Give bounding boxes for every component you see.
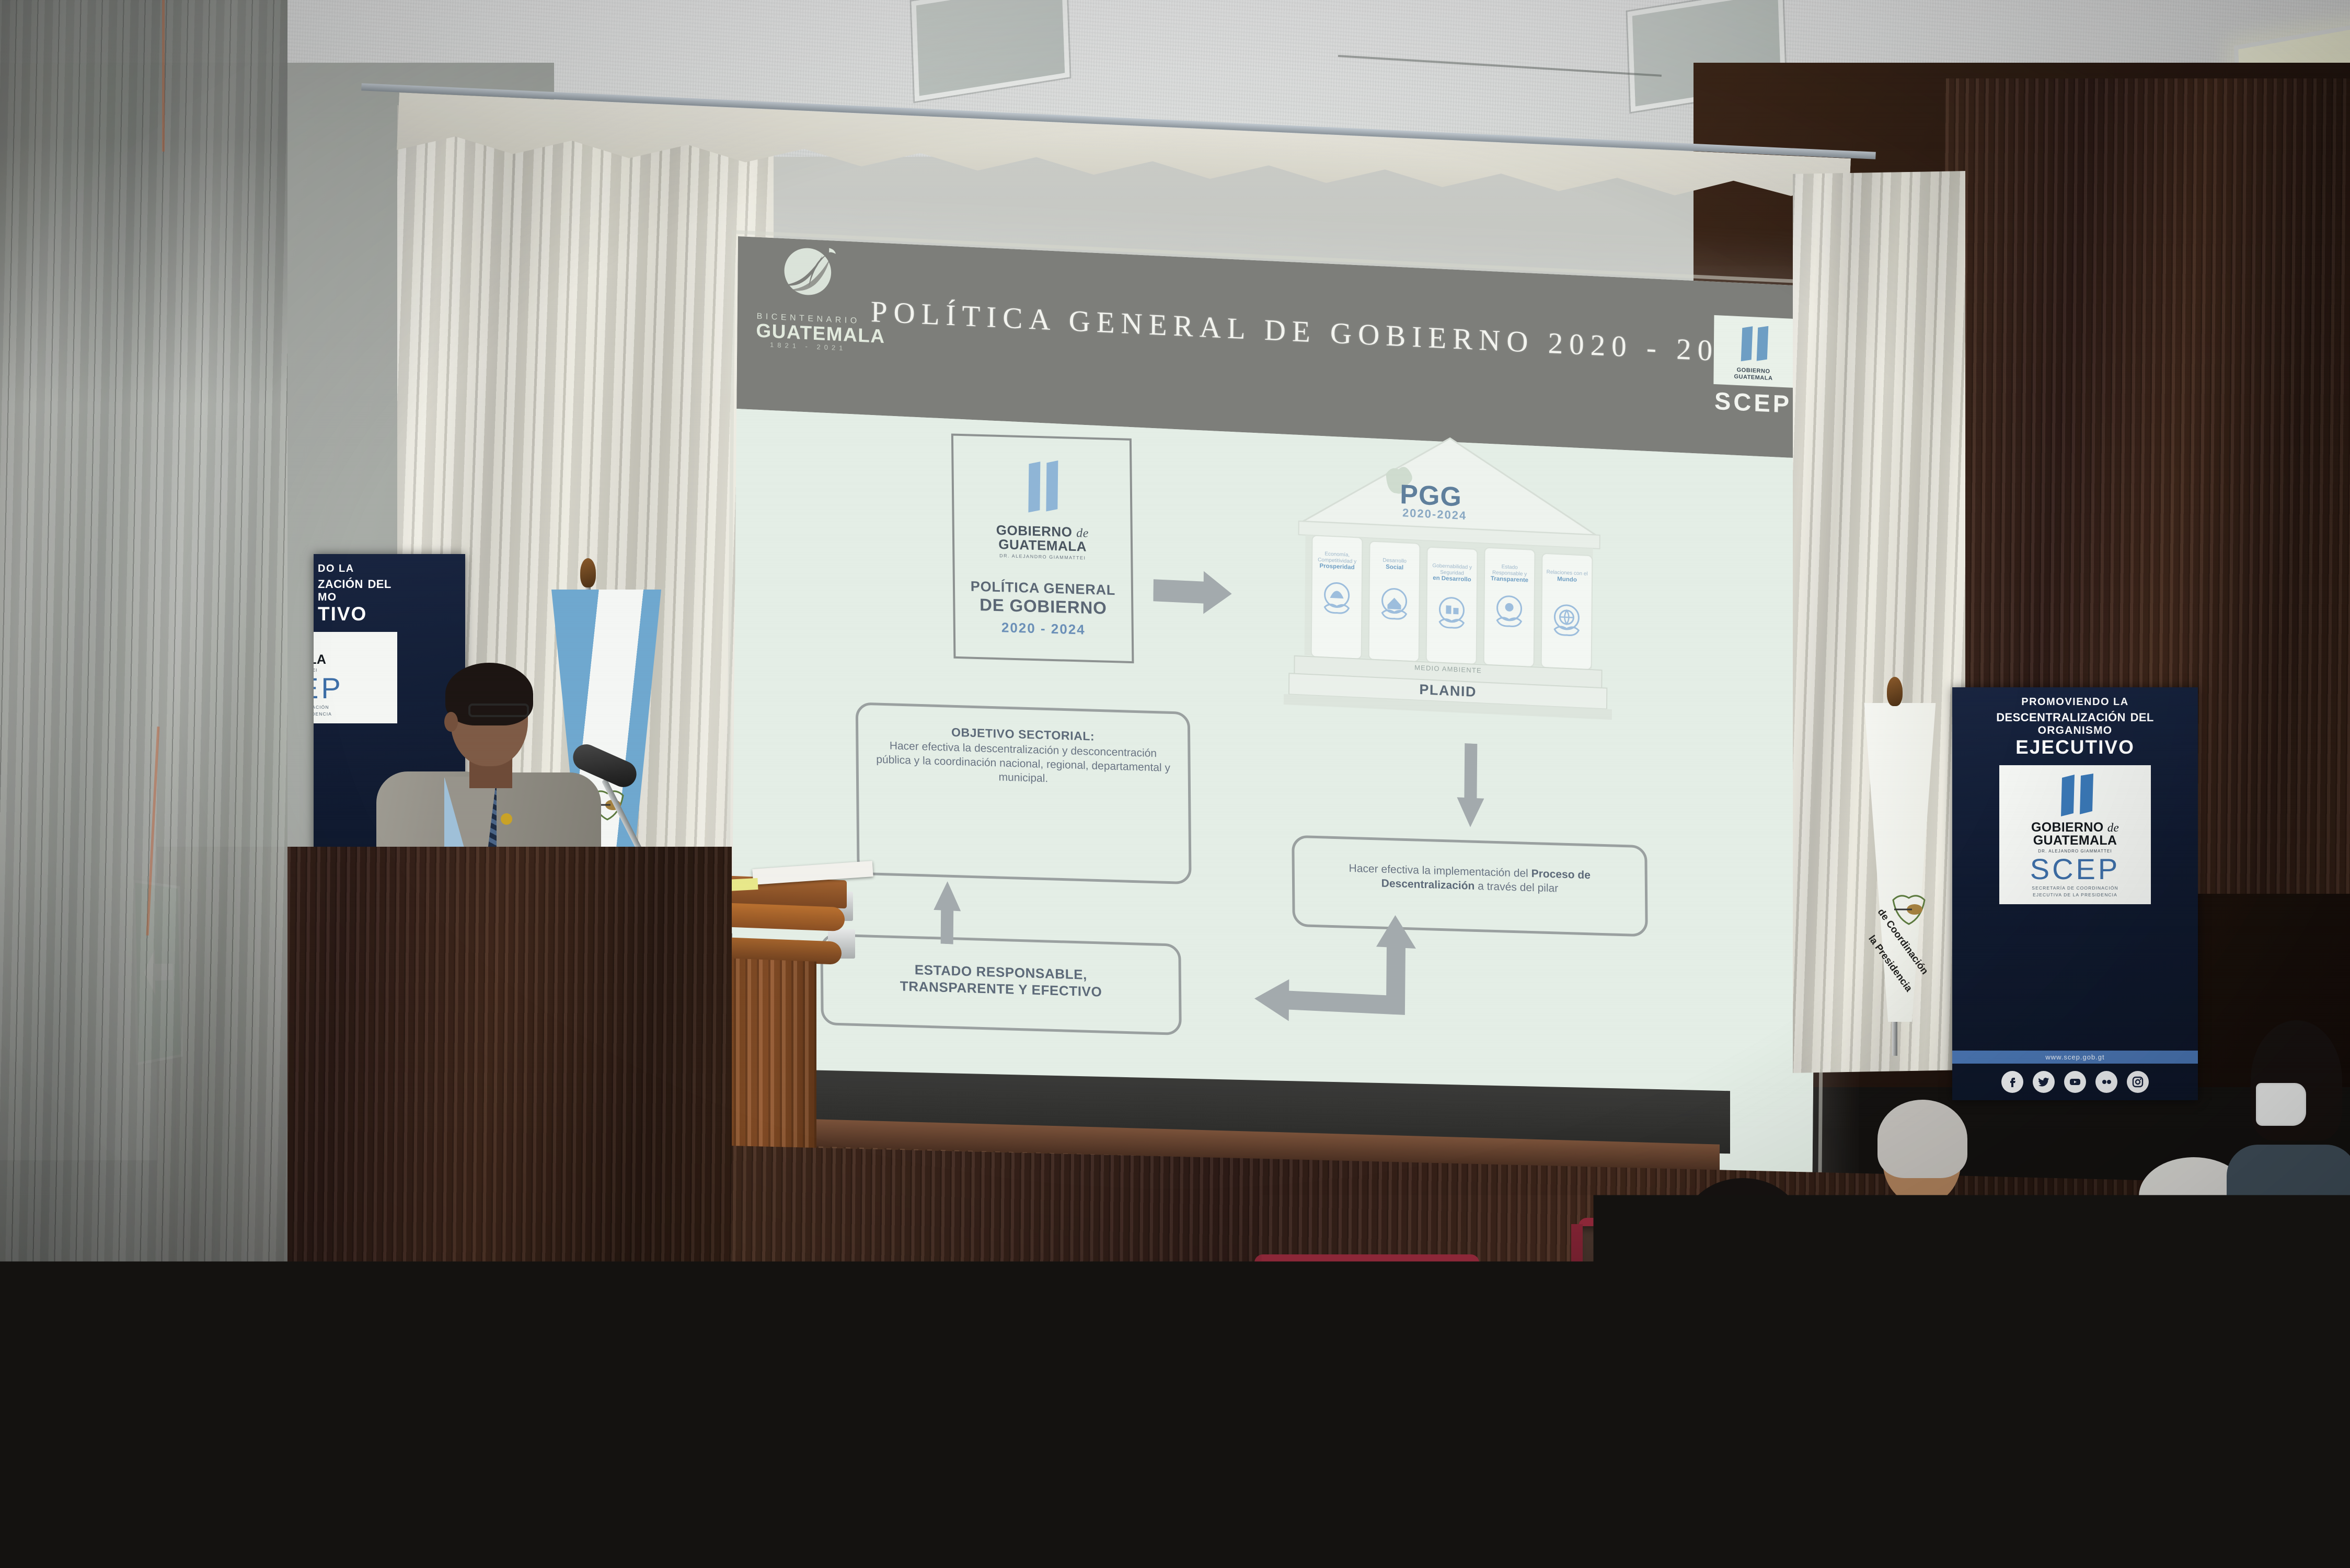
- slide-title: POLÍTICA GENERAL DE GOBIERNO 2020 - 2024: [871, 295, 1761, 370]
- person-body: [2227, 1145, 2350, 1260]
- flagpole-finial-national: [580, 558, 596, 587]
- speaker-lapel-pin: [501, 813, 512, 825]
- banner-right-logo-guatemala: GUATEMALA: [2002, 834, 2148, 848]
- pillar-label-0: Economía, Competitividad y Prosperidad: [1313, 550, 1361, 571]
- banner-right-heading: PROMOVIENDO LA DESCENTRALIZACIÓN DEL ORG…: [1952, 687, 2198, 758]
- banner-right-logo-scep: SCEP: [2002, 855, 2148, 884]
- pillar-sub-2: Gobernabilidad y Seguridad: [1432, 563, 1472, 576]
- objetivo-sectorial-box: OBJETIVO SECTORIAL: Hacer efectiva la de…: [856, 702, 1192, 884]
- proceso-text: Hacer efectiva la implementación del Pro…: [1316, 861, 1624, 898]
- banner-left-logo-row: de: [314, 640, 394, 654]
- card-title-line2: DE GOBIERNO: [955, 594, 1131, 619]
- audience-person-a6: [2232, 1019, 2350, 1218]
- facebook-icon-right[interactable]: [2001, 1071, 2023, 1093]
- pillar-sub-3: Estado Responsable y: [1492, 564, 1527, 577]
- seat-tablet-arm-1[interactable]: [1083, 1263, 1138, 1346]
- pillar-label-1: Desarrollo Social: [1370, 557, 1419, 572]
- quetzal-bicentennial-icon: [774, 242, 844, 312]
- audience-person-a1: [1192, 1296, 1526, 1568]
- pillar-seal-icon-4: [1550, 602, 1583, 640]
- person-face-mask: [2102, 1463, 2175, 1521]
- banner-right-line3: ORGANISMO: [1952, 725, 2198, 737]
- pillar-name-4: Mundo: [1557, 576, 1577, 583]
- banner-right-line2-suffix: DEL: [2130, 711, 2154, 724]
- person-body: [1631, 1359, 1876, 1547]
- pillar-label-2: Gobernabilidad y Seguridad en Desarrollo: [1428, 563, 1476, 584]
- arrow-down-icon: [1457, 743, 1484, 827]
- guatemala-bars-icon: [1727, 324, 1780, 366]
- seat-tablet-arm-2[interactable]: [952, 1404, 1007, 1487]
- audience-document-1: [1962, 1453, 2068, 1536]
- pillar-name-0: Prosperidad: [1319, 563, 1354, 571]
- arrow-up-icon: [934, 881, 961, 944]
- banner-right-logo: GOBIERNO de GUATEMALA DR. ALEJANDRO GIAM…: [1999, 765, 2151, 904]
- auditorium-scene: BICENTENARIO GUATEMALA 1821 - 2021 POLÍT…: [0, 0, 2350, 1568]
- pillar-seal-icon-1: [1378, 585, 1411, 624]
- arrow-elbow-icon: [1254, 909, 1438, 1048]
- slide-scep-logo: GOBIERNO GUATEMALA SCEP: [1706, 315, 1801, 419]
- banner-left-line2-main: ZACIÓN: [318, 578, 363, 591]
- person-hair: [1877, 1100, 1967, 1178]
- projection-screen: BICENTENARIO GUATEMALA 1821 - 2021 POLÍT…: [730, 236, 1820, 1217]
- banner-left-logo-guatemala: ALA: [314, 653, 394, 667]
- guatemala-bars-icon-card: [1013, 459, 1071, 518]
- person-body: [1845, 1202, 1997, 1338]
- person-mask-strap: [1741, 1243, 1793, 1295]
- pillar-label-4: Relaciones con el Mundo: [1543, 569, 1591, 584]
- pillar-name-2: en Desarrollo: [1433, 575, 1471, 583]
- audience-person-a5: [2049, 1364, 2295, 1568]
- bicentennial-logo: BICENTENARIO GUATEMALA 1821 - 2021: [756, 241, 861, 353]
- banner-right-line2-main: DESCENTRALIZACIÓN: [1996, 711, 2126, 724]
- speaker-glasses-icon: [468, 704, 529, 717]
- person-glasses-icon: [1689, 1239, 1747, 1252]
- banner-left-heading: DO LA ZACIÓN DEL MO TIVO: [314, 554, 465, 625]
- pillar-seal-icon-3: [1493, 593, 1526, 631]
- twitter-icon-right[interactable]: [2033, 1071, 2055, 1093]
- pillar-seal-icon-0: [1320, 580, 1353, 618]
- scep-acronym: SCEP: [1706, 386, 1800, 419]
- banner-left-line3: MO: [318, 592, 465, 604]
- blind-mark-1: [162, 0, 165, 152]
- banner-right-logo-row: GOBIERNO de: [2002, 821, 2148, 835]
- banner-right-url[interactable]: www.scep.gob.gt: [1952, 1051, 2198, 1064]
- pillar-name-3: Transparente: [1491, 575, 1528, 583]
- policy-document-card: GOBIERNO de GUATEMALA DR. ALEJANDRO GIAM…: [951, 433, 1134, 663]
- person-face-mask: [2256, 1083, 2306, 1126]
- proceso-text-2: a través del pilar: [1474, 880, 1558, 895]
- pillar-label-3: Estado Responsable y Transparente: [1485, 563, 1534, 584]
- flagpole-finial-institutional: [1887, 677, 1903, 706]
- objetivo-body: Hacer efectiva la descentralización y de…: [874, 739, 1172, 789]
- audience-person-a3: [1845, 1087, 1997, 1307]
- proceso-text-1: Hacer efectiva la implementación del: [1349, 862, 1531, 880]
- banner-left-line1: DO LA: [318, 563, 465, 575]
- speaker-ear: [444, 712, 458, 732]
- banner-right-logo-de: de: [2107, 821, 2119, 834]
- guatemala-bars-icon-banner: [2046, 774, 2104, 818]
- pillar-seal-icon-2: [1435, 594, 1468, 632]
- banner-left-line2: ZACIÓN DEL: [318, 575, 465, 592]
- banner-right-logo-gobierno: GOBIERNO: [2031, 820, 2104, 835]
- banner-right-rollup: PROMOVIENDO LA DESCENTRALIZACIÓN DEL ORG…: [1952, 687, 2198, 1100]
- pgg-temple-graphic: PGG 2020-2024 Economía, Competitividad y…: [1249, 420, 1649, 723]
- scep-logo-chip: GOBIERNO GUATEMALA: [1713, 315, 1793, 388]
- pillar-sub-0: Economía, Competitividad y: [1318, 551, 1356, 564]
- youtube-icon-right[interactable]: [2064, 1071, 2086, 1093]
- instagram-icon-right[interactable]: [2127, 1071, 2149, 1093]
- arrow-right-icon: [1153, 568, 1232, 616]
- audience-person-a2: [1641, 1166, 1861, 1500]
- banner-left-line4: TIVO: [318, 604, 465, 625]
- banner-right-line2: DESCENTRALIZACIÓN DEL: [1952, 708, 2198, 725]
- vertical-blinds-foreground: [0, 0, 287, 1568]
- banner-left-line2-suffix: DEL: [367, 578, 391, 591]
- pillar-name-1: Social: [1386, 563, 1403, 571]
- person-hair: [1192, 1296, 1526, 1568]
- flickr-icon-right[interactable]: [2095, 1071, 2117, 1093]
- banner-right-line4: EJECUTIVO: [1952, 737, 2198, 758]
- banner-right-line1: PROMOVIENDO LA: [1952, 697, 2198, 708]
- card-years: 2020 - 2024: [955, 618, 1132, 639]
- banner-right-logo-sub1: SECRETARÍA DE COORDINACIÓN: [2002, 885, 2148, 891]
- banner-right-logo-sub2: EJECUTIVA DE LA PRESIDENCIA: [2002, 892, 2148, 898]
- estado-responsable-box: ESTADO RESPONSABLE, TRANSPARENTE Y EFECT…: [820, 933, 1182, 1035]
- blind-shading: [0, 0, 287, 1568]
